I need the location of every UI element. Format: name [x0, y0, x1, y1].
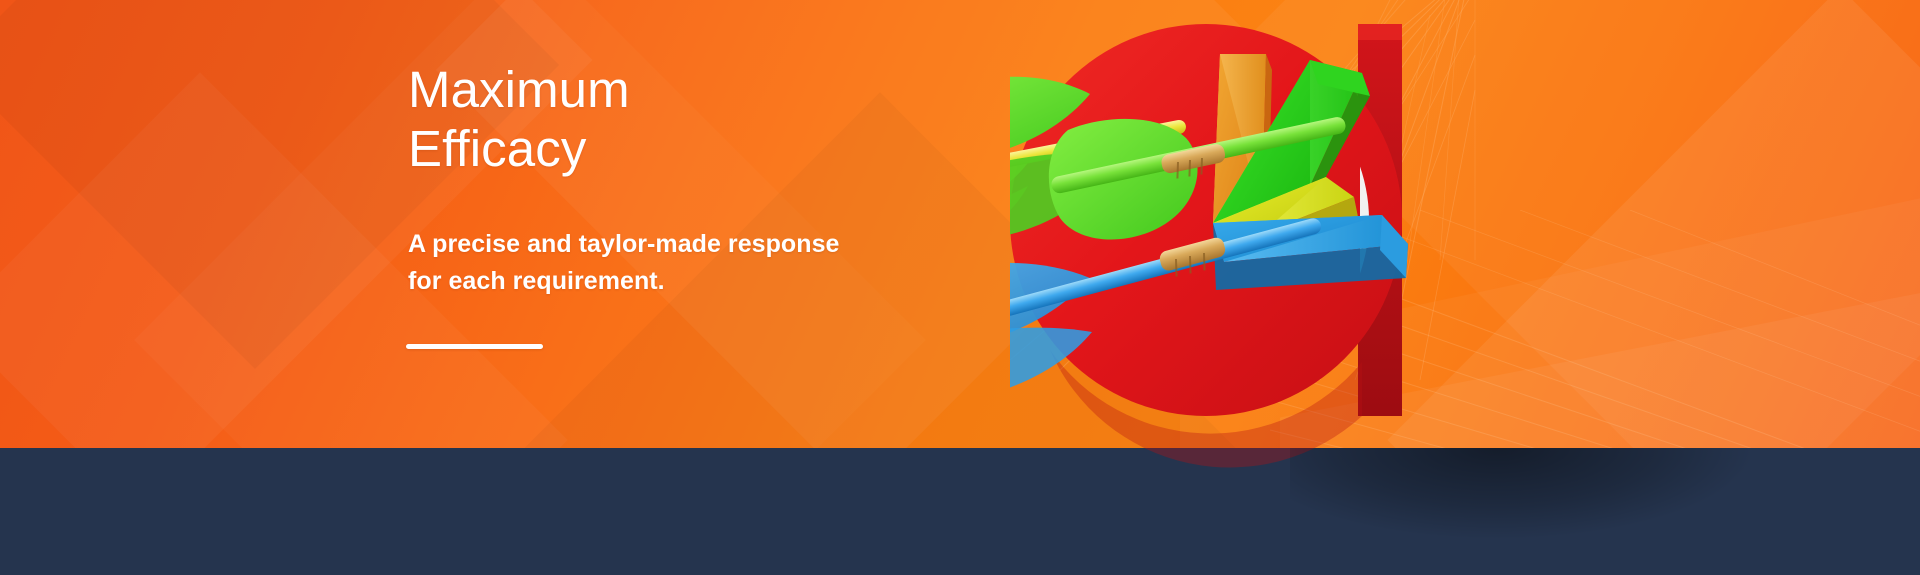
divider: [406, 344, 543, 349]
page-subtitle: A precise and taylor-made response for e…: [408, 226, 968, 300]
hero-banner: Maximum Efficacy A precise and taylor-ma…: [0, 0, 1920, 575]
copy-block: Maximum Efficacy A precise and taylor-ma…: [408, 60, 968, 349]
page-title: Maximum Efficacy: [408, 60, 968, 178]
dartboard-illustration: [1010, 10, 1810, 555]
